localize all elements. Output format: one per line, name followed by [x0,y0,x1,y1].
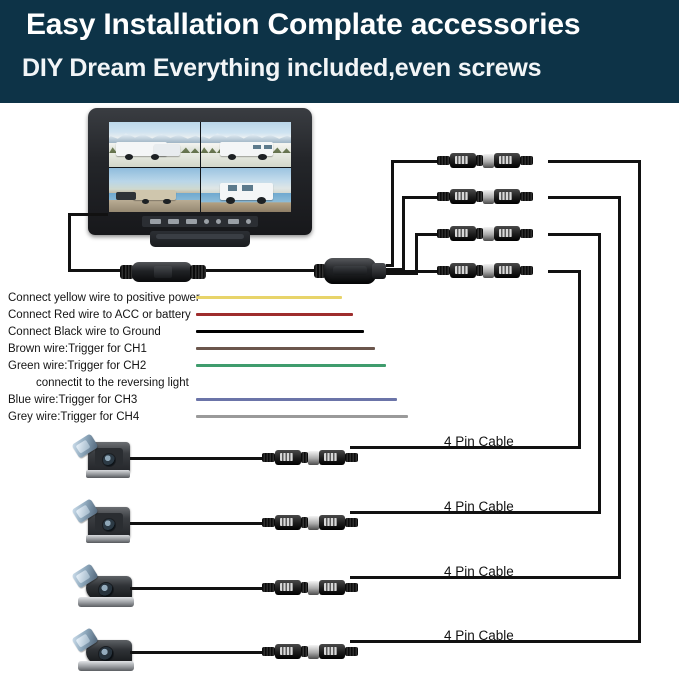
camera-cable-connector-4 [262,643,358,660]
camera-4 [72,630,136,676]
legend-label-brown: Brown wire:Trigger for CH1 [8,342,147,357]
connector-pair-1 [437,152,533,169]
monitor-button-row[interactable] [142,216,258,227]
installation-diagram: Easy Installation Complate accessories D… [0,0,679,668]
header-title-line1: Easy Installation Complate accessories [26,8,580,42]
legend-label-yellow: Connect yellow wire to positive power [8,291,200,306]
quad-view-monitor [88,108,312,247]
monitor-inline-connector [120,261,208,283]
legend-label-green: Green wire:Trigger for CH2 [8,359,146,374]
monitor-button-2[interactable] [168,219,179,224]
ch2-riser [402,196,405,270]
ch2-to-connector [402,196,439,199]
route4-top [548,270,581,273]
monitor-power-button[interactable] [246,219,251,224]
legend-label-blue: Blue wire:Trigger for CH3 [8,393,137,408]
legend-wire-yellow [196,296,342,299]
monitor-button-4[interactable] [204,219,209,224]
legend-row-green-note: connectit to the reversing light [0,376,300,393]
4ch-splitter-box [314,258,386,284]
camera-1 [72,436,136,482]
legend-label-black: Connect Black wire to Ground [8,325,161,340]
connector-pair-4 [437,262,533,279]
legend-row-red: Connect Red wire to ACC or battery [0,308,300,325]
monitor-cable-bottom [68,269,126,272]
legend-row-green: Green wire:Trigger for CH2 [0,359,300,376]
monitor-cable-down [68,213,71,271]
route3-top [548,233,601,236]
wire-legend: Connect yellow wire to positive power Co… [0,291,300,427]
legend-row-black: Connect Black wire to Ground [0,325,300,342]
legend-wire-grey [196,415,408,418]
legend-row-brown: Brown wire:Trigger for CH1 [0,342,300,359]
route1-vertical [638,160,641,643]
camera4-lead [130,651,264,654]
camera2-lead [130,522,264,525]
monitor-screen [109,122,291,212]
cable-inline-to-splitter [206,269,318,272]
legend-wire-brown [196,347,375,350]
route3-vertical [598,233,601,513]
legend-wire-red [196,313,353,316]
camera-cable-connector-1 [262,449,358,466]
monitor-cable-top [68,213,108,216]
legend-wire-blue [196,398,397,401]
connector-pair-3 [437,225,533,242]
monitor-button-3[interactable] [186,219,197,224]
legend-label-grey: Grey wire:Trigger for CH4 [8,410,139,425]
legend-label-green-note: connectit to the reversing light [36,376,189,391]
ch3-riser [415,233,418,274]
legend-wire-black [196,330,364,333]
pin-cable-label-2: 4 Pin Cable [444,499,514,514]
connector-pair-2 [437,188,533,205]
camera-view-2 [201,122,292,167]
pin-cable-label-1: 4 Pin Cable [444,434,514,449]
camera-cable-connector-2 [262,514,358,531]
legend-wire-green [196,364,386,367]
pin-cable-label-3: 4 Pin Cable [444,564,514,579]
camera-3 [72,566,136,612]
legend-row-blue: Blue wire:Trigger for CH3 [0,393,300,410]
route4-vertical [578,270,581,448]
camera-view-1 [109,122,200,167]
camera1-lead [130,457,264,460]
monitor-button-6[interactable] [228,219,239,224]
camera-2 [72,501,136,547]
legend-label-red: Connect Red wire to ACC or battery [8,308,191,323]
route2-top [548,196,621,199]
route1-top [548,160,641,163]
legend-row-yellow: Connect yellow wire to positive power [0,291,300,308]
ch1-riser [391,160,394,266]
camera-cable-connector-3 [262,579,358,596]
monitor-button-5[interactable] [216,219,221,224]
camera-view-3 [109,168,200,213]
monitor-stand [150,231,250,247]
ch1-to-connector [391,160,439,163]
camera3-lead [130,587,264,590]
camera-view-4 [201,168,292,213]
header-title-line2: DIY Dream Everything included,even screw… [22,54,541,83]
header-banner: Easy Installation Complate accessories D… [0,0,679,103]
ch3-to-connector [415,233,439,236]
monitor-button-1[interactable] [150,219,161,224]
legend-row-grey: Grey wire:Trigger for CH4 [0,410,300,427]
ch4-to-connector [386,270,439,273]
route2-vertical [618,196,621,579]
pin-cable-label-4: 4 Pin Cable [444,628,514,643]
